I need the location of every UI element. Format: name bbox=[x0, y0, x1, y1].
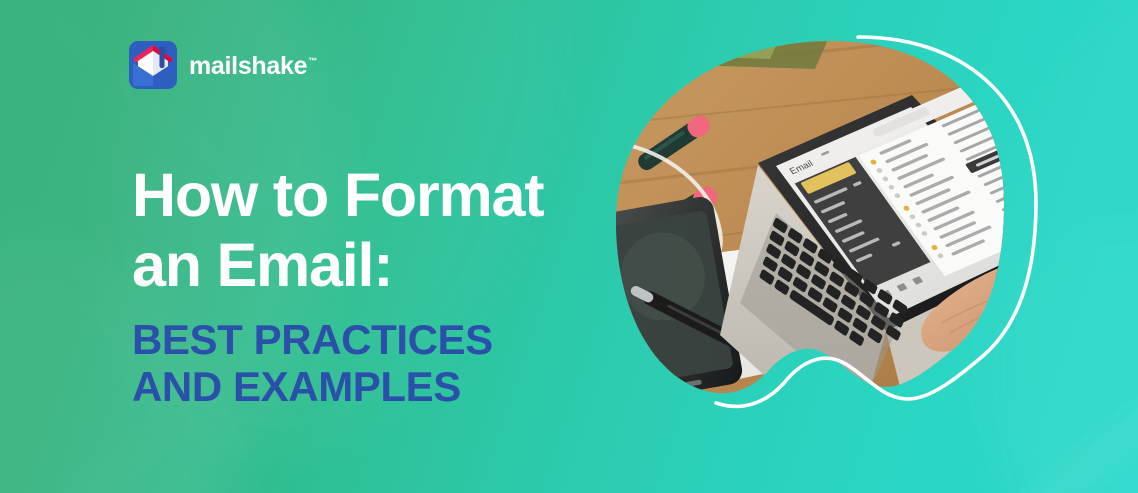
blog-header-banner: mailshake™ How to Format an Email: BEST … bbox=[0, 0, 1138, 493]
subheadline-block: BEST PRACTICES AND EXAMPLES bbox=[132, 316, 652, 410]
plant-blur bbox=[660, 35, 830, 69]
plant-blur bbox=[695, 37, 780, 59]
wrist-watch-band bbox=[900, 387, 982, 449]
headline-line-1: How to Format bbox=[132, 161, 652, 231]
subheadline-line-2: AND EXAMPLES bbox=[132, 363, 652, 410]
hero-artwork-illustration: Email bbox=[600, 35, 1070, 475]
brand-wordmark: mailshake™ bbox=[189, 52, 317, 79]
background-light-ray bbox=[43, 423, 167, 493]
trademark-symbol: ™ bbox=[308, 56, 317, 66]
hero-artwork: Email bbox=[600, 35, 1070, 475]
brand-name: mailshake bbox=[189, 52, 307, 80]
headline-block: How to Format an Email: BEST PRACTICES A… bbox=[132, 161, 652, 410]
photo-clip-group: Email bbox=[600, 25, 1135, 475]
headline-line-2: an Email: bbox=[132, 231, 652, 301]
mailshake-envelope-icon bbox=[129, 41, 177, 89]
subheadline-line-1: BEST PRACTICES bbox=[132, 316, 652, 363]
brand-logo[interactable]: mailshake™ bbox=[129, 41, 317, 89]
